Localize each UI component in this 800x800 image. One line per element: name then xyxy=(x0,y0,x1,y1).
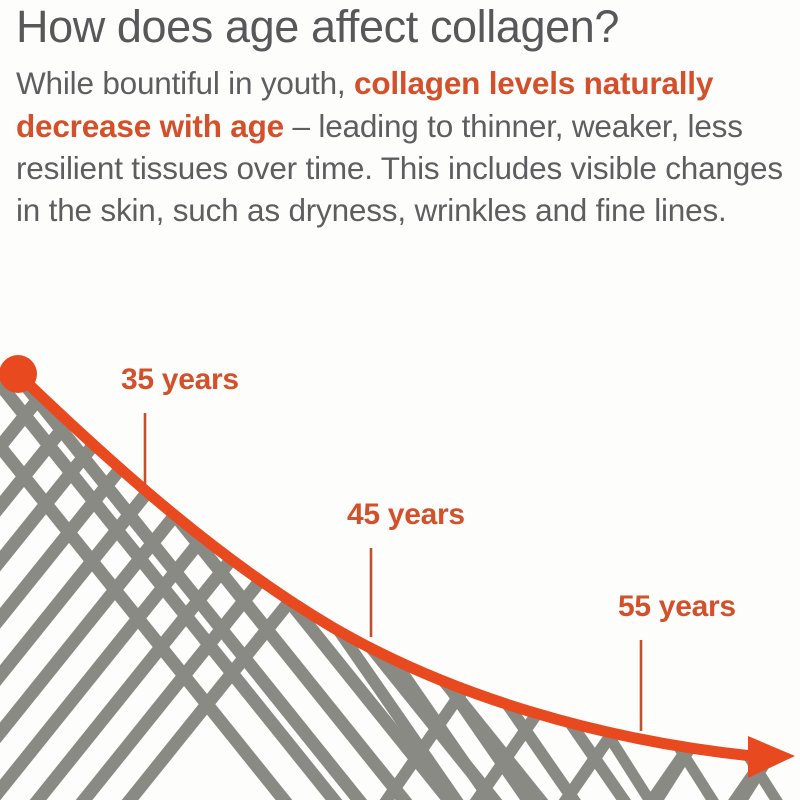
callout-label-35-years: 35 years xyxy=(121,363,239,397)
curve-start-dot xyxy=(0,355,37,393)
collagen-fibre-mesh xyxy=(0,372,800,800)
collagen-age-infographic: 35 years 45 years 55 years How does age … xyxy=(0,0,800,800)
callout-label-55-years: 55 years xyxy=(618,590,736,624)
body-paragraph: While bountiful in youth, collagen level… xyxy=(16,52,800,231)
callout-label-45-years: 45 years xyxy=(347,498,465,532)
header-text-block: How does age affect collagen? While boun… xyxy=(16,0,800,232)
paragraph-lead-text: While bountiful in youth, xyxy=(16,65,354,101)
page-title: How does age affect collagen? xyxy=(16,0,800,52)
curve-arrow-icon xyxy=(748,736,795,778)
